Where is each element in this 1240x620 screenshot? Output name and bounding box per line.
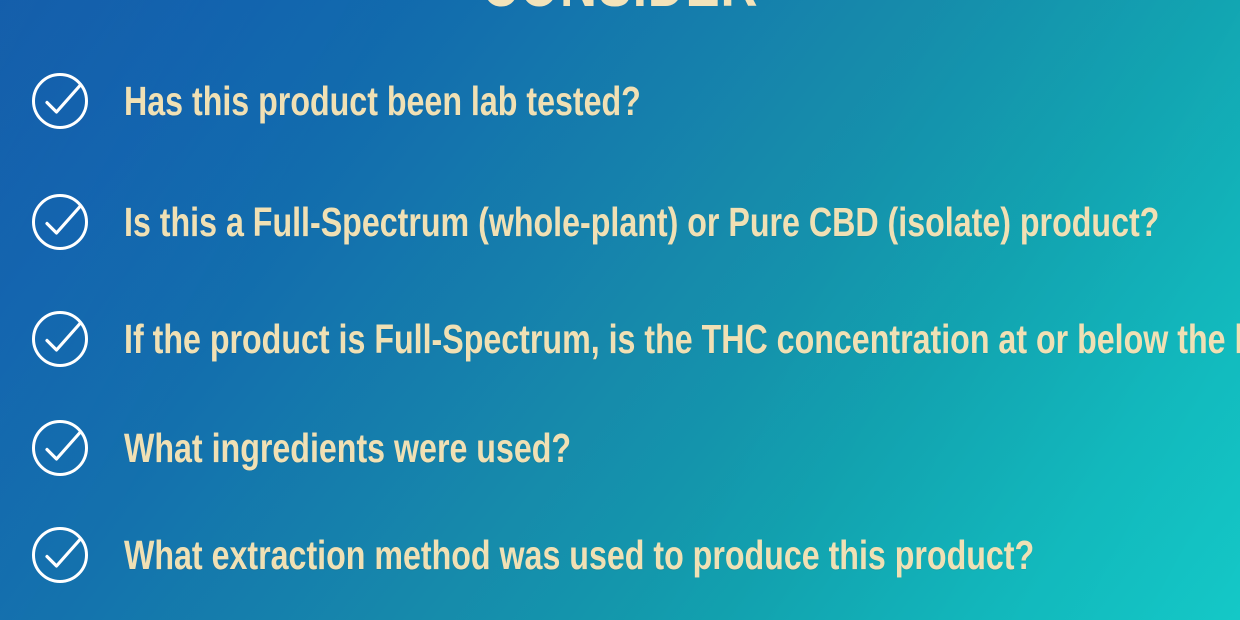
- list-item: Is this a Full-Spectrum (whole-plant) or…: [30, 192, 1240, 252]
- page-title-container: CONSIDER: [0, 0, 1240, 22]
- check-circle-icon: [30, 309, 90, 369]
- list-item-label: If the product is Full-Spectrum, is the …: [124, 317, 1240, 361]
- list-item-label: What ingredients were used?: [124, 426, 571, 470]
- check-circle-icon: [30, 71, 90, 131]
- slide-canvas: CONSIDER Has this product been lab teste…: [0, 0, 1240, 620]
- list-item-label: Is this a Full-Spectrum (whole-plant) or…: [124, 200, 1159, 244]
- page-title: CONSIDER: [482, 0, 759, 22]
- list-item: Has this product been lab tested?: [30, 71, 782, 131]
- list-item-label: What extraction method was used to produ…: [124, 533, 1034, 577]
- check-circle-icon: [30, 525, 90, 585]
- list-item: What extraction method was used to produ…: [30, 525, 1240, 585]
- check-circle-icon: [30, 192, 90, 252]
- list-item: What ingredients were used?: [30, 418, 694, 478]
- list-item-label: Has this product been lab tested?: [124, 79, 641, 123]
- list-item: If the product is Full-Spectrum, is the …: [30, 309, 1240, 369]
- check-circle-icon: [30, 418, 90, 478]
